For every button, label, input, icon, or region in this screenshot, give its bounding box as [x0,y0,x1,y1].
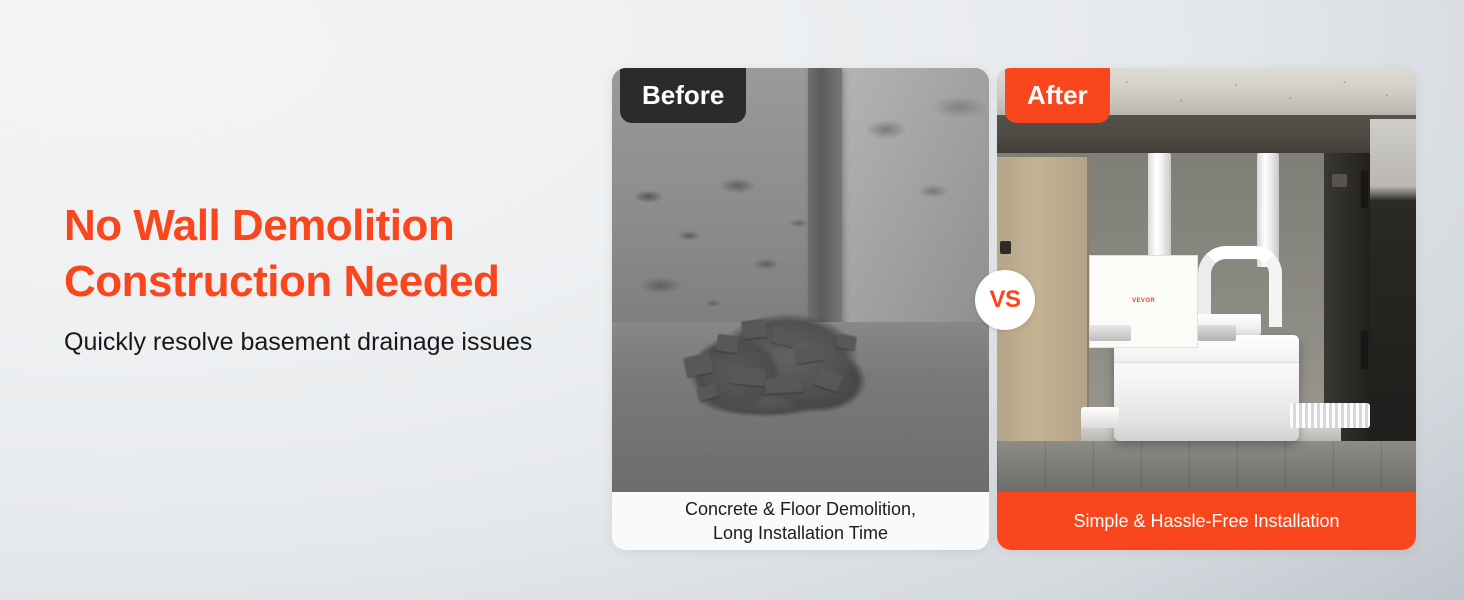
tile-floor-shape [997,441,1416,492]
page-title: No Wall Demolition Construction Needed [64,198,604,310]
pump-inlet-port-right [1198,325,1236,342]
after-panel: VEVOR After Simple & Hassle-Free Install… [997,68,1416,550]
macerator-pump-unit [1114,335,1298,441]
vs-badge: VS [975,270,1035,330]
before-caption: Concrete & Floor Demolition, Long Instal… [612,492,989,550]
cabinet-handle-right [1332,174,1347,187]
after-photo: VEVOR [997,68,1416,492]
hero-copy: No Wall Demolition Construction Needed Q… [64,198,604,358]
floor-debris-texture [612,68,989,492]
before-badge: Before [620,68,746,123]
headline-line-1: No Wall Demolition [64,198,604,254]
after-badge: After [1005,68,1110,123]
before-after-comparison: Before Concrete & Floor Demolition, Long… [612,68,1416,550]
cabinet-hinge-lower [1361,331,1368,369]
before-caption-line-2: Long Installation Time [713,523,888,543]
headline-line-2: Construction Needed [64,254,604,310]
pump-inlet-port-left [1089,325,1131,342]
flexible-discharge-hose [1290,403,1370,428]
appliance-right-shape [1370,119,1416,492]
pump-outlet-pipe-left [1081,407,1119,428]
after-caption: Simple & Hassle-Free Installation [997,492,1416,550]
before-photo [612,68,989,492]
hero-subtitle: Quickly resolve basement drainage issues [64,326,604,358]
cabinet-handle-left [1000,241,1012,254]
before-caption-line-1: Concrete & Floor Demolition, [685,499,916,519]
brand-text: VEVOR [1132,298,1155,304]
before-panel: Before Concrete & Floor Demolition, Long… [612,68,989,550]
cabinet-hinge-upper [1361,170,1368,208]
